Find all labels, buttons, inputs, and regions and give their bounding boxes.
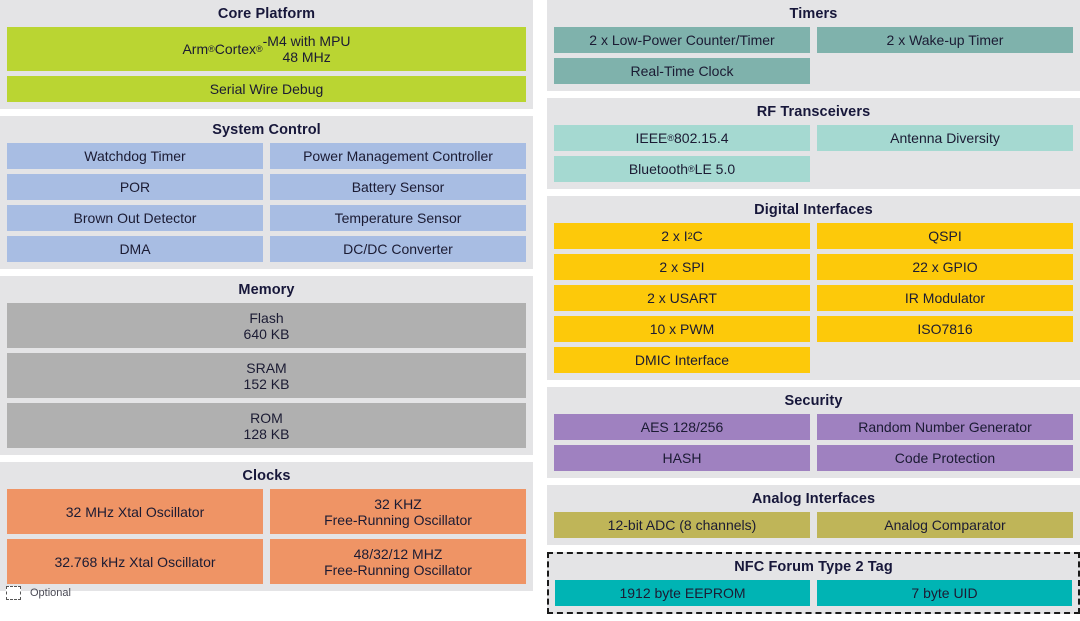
block-2-x-low-power-counter-timer[interactable]: 2 x Low-Power Counter/Timer (554, 27, 810, 53)
block-diagram: Core PlatformArm® Cortex®-M4 with MPU 48… (0, 0, 1080, 605)
panel-clocks: Clocks32 MHz Xtal Oscillator32 KHZ Free-… (0, 462, 533, 591)
left-column: Core PlatformArm® Cortex®-M4 with MPU 48… (0, 0, 533, 598)
block-flash-640-kb[interactable]: Flash 640 KB (7, 303, 526, 348)
panel-rows: AES 128/256Random Number GeneratorHASHCo… (554, 414, 1073, 471)
block-7-byte-uid[interactable]: 7 byte UID (817, 580, 1072, 606)
block-dma[interactable]: DMA (7, 236, 263, 262)
block-analog-comparator[interactable]: Analog Comparator (817, 512, 1073, 538)
block-32-768-khz-xtal-oscillator[interactable]: 32.768 kHz Xtal Oscillator (7, 539, 263, 584)
panel-rows: Arm® Cortex®-M4 with MPU 48 MHzSerial Wi… (7, 27, 526, 102)
panel-title: Digital Interfaces (554, 199, 1073, 223)
panel-title: Timers (554, 3, 1073, 27)
block-1912-byte-eeprom[interactable]: 1912 byte EEPROM (555, 580, 810, 606)
panel-title: Core Platform (7, 3, 526, 27)
block-iso7816[interactable]: ISO7816 (817, 316, 1073, 342)
block-serial-wire-debug[interactable]: Serial Wire Debug (7, 76, 526, 102)
block-row: 2 x I2CQSPI (554, 223, 1073, 249)
block-code-protection[interactable]: Code Protection (817, 445, 1073, 471)
block-row: ROM 128 KB (7, 403, 526, 448)
block-row: 10 x PWMISO7816 (554, 316, 1073, 342)
block-row: 32.768 kHz Xtal Oscillator48/32/12 MHZ F… (7, 539, 526, 584)
block-bluetooth-le-5-0[interactable]: Bluetooth® LE 5.0 (554, 156, 810, 182)
legend-label: Optional (30, 587, 71, 599)
block-qspi[interactable]: QSPI (817, 223, 1073, 249)
block-aes-128-256[interactable]: AES 128/256 (554, 414, 810, 440)
dashed-square-icon (6, 586, 21, 600)
block-hash[interactable]: HASH (554, 445, 810, 471)
panel-title: Analog Interfaces (554, 488, 1073, 512)
block-row: Bluetooth® LE 5.0 (554, 156, 1073, 182)
block-2-x-usart[interactable]: 2 x USART (554, 285, 810, 311)
panel-timers: Timers2 x Low-Power Counter/Timer2 x Wak… (547, 0, 1080, 91)
block-row: 2 x SPI22 x GPIO (554, 254, 1073, 280)
block-dc-dc-converter[interactable]: DC/DC Converter (270, 236, 526, 262)
block-row: DMIC Interface (554, 347, 1073, 373)
panel-rf-transceivers: RF TransceiversIEEE® 802.15.4Antenna Div… (547, 98, 1080, 189)
block-row: PORBattery Sensor (7, 174, 526, 200)
block-antenna-diversity[interactable]: Antenna Diversity (817, 125, 1073, 151)
block-ir-modulator[interactable]: IR Modulator (817, 285, 1073, 311)
block-row: HASHCode Protection (554, 445, 1073, 471)
block-48-32-12-mhz-free-running-oscillator[interactable]: 48/32/12 MHZ Free-Running Oscillator (270, 539, 526, 584)
panel-memory: MemoryFlash 640 KBSRAM 152 KBROM 128 KB (0, 276, 533, 455)
panel-title: System Control (7, 119, 526, 143)
block-por[interactable]: POR (7, 174, 263, 200)
block-32-khz-free-running-oscillator[interactable]: 32 KHZ Free-Running Oscillator (270, 489, 526, 534)
block-2-x-wake-up-timer[interactable]: 2 x Wake-up Timer (817, 27, 1073, 53)
block-real-time-clock[interactable]: Real-Time Clock (554, 58, 810, 84)
block-22-x-gpio[interactable]: 22 x GPIO (817, 254, 1073, 280)
right-column: Timers2 x Low-Power Counter/Timer2 x Wak… (547, 0, 1080, 621)
block-row: 2 x Low-Power Counter/Timer2 x Wake-up T… (554, 27, 1073, 53)
legend: Optional (6, 586, 71, 600)
block-row: SRAM 152 KB (7, 353, 526, 398)
block-row: 32 MHz Xtal Oscillator32 KHZ Free-Runnin… (7, 489, 526, 534)
panel-title: Memory (7, 279, 526, 303)
panel-digital-interfaces: Digital Interfaces2 x I2CQSPI2 x SPI22 x… (547, 196, 1080, 380)
block-row: Arm® Cortex®-M4 with MPU 48 MHz (7, 27, 526, 71)
panel-rows: 1912 byte EEPROM7 byte UID (555, 580, 1072, 606)
block-dmic-interface[interactable]: DMIC Interface (554, 347, 810, 373)
panel-rows: 32 MHz Xtal Oscillator32 KHZ Free-Runnin… (7, 489, 526, 584)
block-rom-128-kb[interactable]: ROM 128 KB (7, 403, 526, 448)
panel-core-platform: Core PlatformArm® Cortex®-M4 with MPU 48… (0, 0, 533, 109)
block-watchdog-timer[interactable]: Watchdog Timer (7, 143, 263, 169)
panel-title: Clocks (7, 465, 526, 489)
panel-title: RF Transceivers (554, 101, 1073, 125)
block-2-x-spi[interactable]: 2 x SPI (554, 254, 810, 280)
block-spacer (817, 58, 1073, 84)
panel-rows: 2 x Low-Power Counter/Timer2 x Wake-up T… (554, 27, 1073, 84)
block-row: 12-bit ADC (8 channels)Analog Comparator (554, 512, 1073, 538)
panel-system-control: System ControlWatchdog TimerPower Manage… (0, 116, 533, 269)
panel-title: NFC Forum Type 2 Tag (555, 556, 1072, 580)
block-random-number-generator[interactable]: Random Number Generator (817, 414, 1073, 440)
panel-security: SecurityAES 128/256Random Number Generat… (547, 387, 1080, 478)
block-row: 1912 byte EEPROM7 byte UID (555, 580, 1072, 606)
block-2-x-ic[interactable]: 2 x I2C (554, 223, 810, 249)
block-row: 2 x USARTIR Modulator (554, 285, 1073, 311)
panel-analog-interfaces: Analog Interfaces12-bit ADC (8 channels)… (547, 485, 1080, 545)
block-row: Real-Time Clock (554, 58, 1073, 84)
panel-title: Security (554, 390, 1073, 414)
block-row: Serial Wire Debug (7, 76, 526, 102)
block-arm-cortex-m4-with-mpu-48-mhz[interactable]: Arm® Cortex®-M4 with MPU 48 MHz (7, 27, 526, 71)
block-row: Watchdog TimerPower Management Controlle… (7, 143, 526, 169)
block-row: Flash 640 KB (7, 303, 526, 348)
block-sram-152-kb[interactable]: SRAM 152 KB (7, 353, 526, 398)
block-spacer (817, 347, 1073, 373)
block-row: IEEE® 802.15.4Antenna Diversity (554, 125, 1073, 151)
block-brown-out-detector[interactable]: Brown Out Detector (7, 205, 263, 231)
panel-rows: Watchdog TimerPower Management Controlle… (7, 143, 526, 262)
block-row: Brown Out DetectorTemperature Sensor (7, 205, 526, 231)
panel-rows: IEEE® 802.15.4Antenna DiversityBluetooth… (554, 125, 1073, 182)
block-row: AES 128/256Random Number Generator (554, 414, 1073, 440)
block-power-management-controller[interactable]: Power Management Controller (270, 143, 526, 169)
block-battery-sensor[interactable]: Battery Sensor (270, 174, 526, 200)
panel-rows: Flash 640 KBSRAM 152 KBROM 128 KB (7, 303, 526, 448)
panel-rows: 12-bit ADC (8 channels)Analog Comparator (554, 512, 1073, 538)
block-10-x-pwm[interactable]: 10 x PWM (554, 316, 810, 342)
block-spacer (817, 156, 1073, 182)
panel-rows: 2 x I2CQSPI2 x SPI22 x GPIO2 x USARTIR M… (554, 223, 1073, 373)
block-12-bit-adc-8-channels[interactable]: 12-bit ADC (8 channels) (554, 512, 810, 538)
block-row: DMADC/DC Converter (7, 236, 526, 262)
block-temperature-sensor[interactable]: Temperature Sensor (270, 205, 526, 231)
block-32-mhz-xtal-oscillator[interactable]: 32 MHz Xtal Oscillator (7, 489, 263, 534)
block-ieee-802-15-4[interactable]: IEEE® 802.15.4 (554, 125, 810, 151)
